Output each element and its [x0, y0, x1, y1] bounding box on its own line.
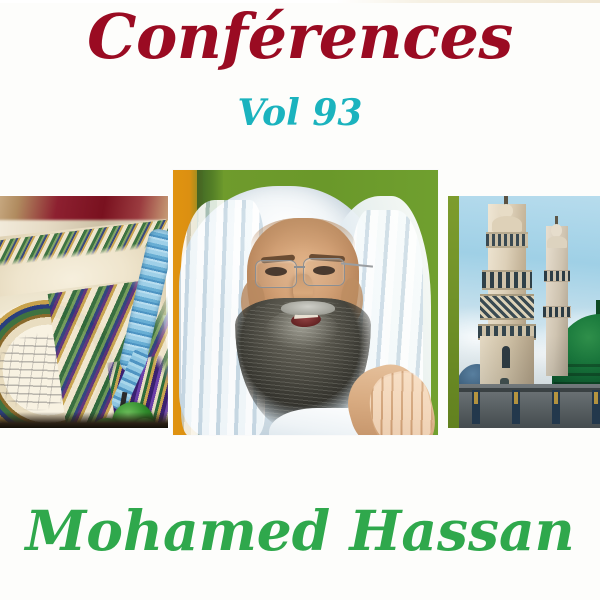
mosque-photo-green-border — [448, 196, 459, 428]
volume-label: Vol 93 — [0, 68, 600, 131]
quran-bottom-shadow — [0, 412, 168, 428]
eyeglasses-left-lens — [255, 260, 297, 288]
page-title: Conférences — [0, 0, 600, 68]
title-block: Conférences Vol 93 — [0, 0, 600, 131]
artist-name: Mohamed Hassan — [0, 503, 600, 558]
speaker-portrait-photo — [173, 170, 438, 435]
album-cover: Conférences Vol 93 — [0, 0, 600, 600]
prophets-mosque-photo — [448, 196, 600, 428]
quran-photo — [0, 196, 168, 428]
moustache — [281, 301, 335, 315]
eyeglasses-bridge — [294, 266, 305, 268]
eyeglasses-right-lens — [303, 258, 345, 286]
quran-artwork — [0, 196, 168, 428]
mosque-photo-shading — [448, 196, 600, 428]
